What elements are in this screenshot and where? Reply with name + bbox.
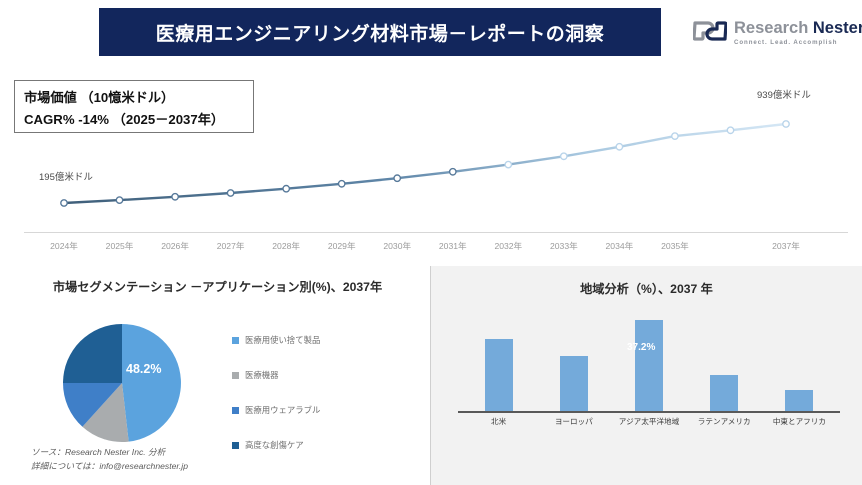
line-chart-axis-rule xyxy=(24,232,848,233)
market-forecast-line-chart xyxy=(0,60,862,260)
x-axis-tick-label: 2024年 xyxy=(50,240,78,252)
bar[interactable] xyxy=(710,375,738,411)
x-axis-tick-label: 2037年 xyxy=(772,240,800,252)
x-axis-tick-label: 2031年 xyxy=(439,240,467,252)
line-data-point xyxy=(727,127,733,133)
x-axis-tick-label: 2028年 xyxy=(272,240,300,252)
bar-chart-baseline xyxy=(458,411,840,413)
line-data-point xyxy=(561,153,567,159)
bar-slot xyxy=(611,313,686,411)
line-data-point xyxy=(672,133,678,139)
bar-slot xyxy=(762,313,837,411)
logo-wordmark: Research Nester xyxy=(734,20,862,37)
bar-chart-x-axis: 北米ヨーロッパアジア太平洋地域ラテンアメリカ中東とアフリカ xyxy=(461,416,837,432)
bar-x-axis-tick-label: ラテンアメリカ xyxy=(698,416,751,427)
legend-item[interactable]: 医療機器 xyxy=(232,361,407,389)
pie-slice xyxy=(122,324,181,442)
legend-item[interactable]: 医療用使い捨て製品 xyxy=(232,326,407,354)
legend-item-label: 医療用使い捨て製品 xyxy=(245,334,320,346)
x-axis-tick-label: 2035年 xyxy=(661,240,689,252)
logo-word-research: Research xyxy=(734,19,813,37)
line-data-point xyxy=(505,161,511,167)
line-data-point xyxy=(283,186,289,192)
bar-x-axis-tick-label: アジア太平洋地域 xyxy=(619,416,679,427)
line-data-point xyxy=(227,190,233,196)
pie-chart-svg xyxy=(62,323,182,443)
line-data-point xyxy=(394,175,400,181)
x-axis-tick-label: 2033年 xyxy=(550,240,578,252)
bar[interactable] xyxy=(785,390,813,411)
line-chart-x-axis: 2024年2025年2026年2027年2028年2029年2030年2031年… xyxy=(24,240,848,256)
line-data-point xyxy=(450,169,456,175)
segmentation-legend: 医療用使い捨て製品医療機器医療用ウェアラブル高度な創傷ケア xyxy=(232,326,407,466)
pie-highlight-percent: 48.2% xyxy=(126,362,161,376)
x-axis-tick-label: 2026年 xyxy=(161,240,189,252)
logo-tagline: Connect. Lead. Accomplish xyxy=(734,40,862,46)
bar[interactable] xyxy=(485,339,513,411)
line-data-point xyxy=(616,144,622,150)
x-axis-tick-label: 2027年 xyxy=(217,240,245,252)
bar-slot xyxy=(687,313,762,411)
x-axis-tick-label: 2025年 xyxy=(106,240,134,252)
x-axis-tick-label: 2032年 xyxy=(494,240,522,252)
logo-word-nester: Nester xyxy=(813,19,862,37)
line-data-point xyxy=(172,194,178,200)
source-line-1: ソース：Research Nester Inc. 分析 xyxy=(31,446,188,460)
legend-item[interactable]: 医療用ウェアラブル xyxy=(232,396,407,424)
legend-swatch xyxy=(232,442,239,449)
regional-bar-chart xyxy=(461,313,837,411)
source-line-2: 詳細については：info@researchnester.jp xyxy=(31,460,188,474)
legend-item-label: 医療用ウェアラブル xyxy=(245,404,320,416)
line-data-point xyxy=(339,181,345,187)
segmentation-panel: 市場セグメンテーション －アプリケーション別(%)、2037年 医療用使い捨て製… xyxy=(0,266,430,485)
legend-item[interactable]: 高度な創傷ケア xyxy=(232,431,407,459)
regional-analysis-title: 地域分析（%）、2037 年 xyxy=(431,279,862,297)
brand-logo[interactable]: Research Nester Connect. Lead. Accomplis… xyxy=(693,12,858,54)
line-data-point xyxy=(61,200,67,206)
page-title: 医療用エンジニアリング材料市場－レポートの洞察 xyxy=(156,19,605,46)
bar-x-axis-tick-label: 北米 xyxy=(491,416,506,427)
legend-item-label: 医療機器 xyxy=(245,369,279,381)
legend-swatch xyxy=(232,337,239,344)
x-axis-tick-label: 2029年 xyxy=(328,240,356,252)
bar-x-axis-tick-label: ヨーロッパ xyxy=(555,416,593,427)
pie-slice xyxy=(63,324,122,383)
line-chart-svg xyxy=(0,60,862,260)
source-note: ソース：Research Nester Inc. 分析 詳細については：info… xyxy=(31,446,188,474)
line-start-value-label: 195億米ドル xyxy=(39,169,93,183)
research-nester-logo-icon xyxy=(693,20,727,47)
legend-swatch xyxy=(232,407,239,414)
legend-swatch xyxy=(232,372,239,379)
bar[interactable] xyxy=(635,320,663,411)
bar-slot xyxy=(536,313,611,411)
line-end-value-label: 939億米ドル xyxy=(757,87,811,101)
x-axis-tick-label: 2030年 xyxy=(383,240,411,252)
bar[interactable] xyxy=(560,356,588,411)
bar-highlight-percent: 37.2% xyxy=(627,342,655,353)
regional-analysis-panel: 地域分析（%）、2037 年 37.2% 北米ヨーロッパアジア太平洋地域ラテンア… xyxy=(431,266,862,485)
bar-x-axis-tick-label: 中東とアフリカ xyxy=(773,416,826,427)
header-banner: 医療用エンジニアリング材料市場－レポートの洞察 xyxy=(99,8,661,56)
line-data-points xyxy=(61,121,789,206)
segmentation-pie-chart xyxy=(62,323,182,448)
line-data-point xyxy=(116,197,122,203)
segmentation-title: 市場セグメンテーション －アプリケーション別(%)、2037年 xyxy=(30,279,405,297)
legend-item-label: 高度な創傷ケア xyxy=(245,439,304,451)
x-axis-tick-label: 2034年 xyxy=(606,240,634,252)
bar-slot xyxy=(461,313,536,411)
line-data-point xyxy=(783,121,789,127)
